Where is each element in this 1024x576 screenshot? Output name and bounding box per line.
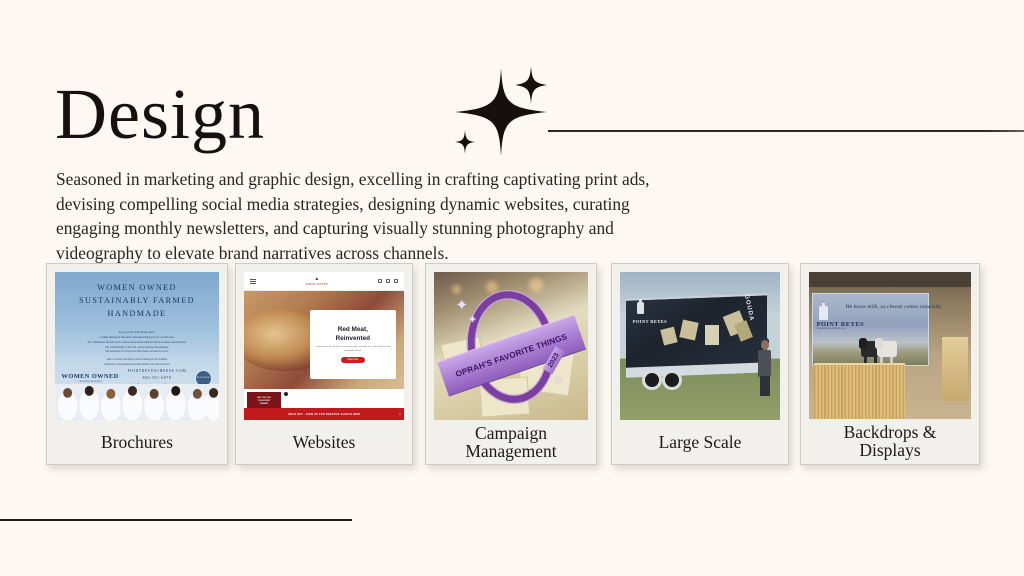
hero-message-card: Red Meat, Reinvented Grassfed beef the o…: [310, 310, 396, 378]
chat-bubble-icon: [284, 392, 288, 396]
card-caption-backdrops-displays: Backdrops & Displays: [809, 419, 971, 464]
torso: [758, 350, 771, 377]
portfolio-card-row: WOMEN OWNED SUSTAINABLY FARMED HANDMADE …: [0, 263, 1024, 473]
brochure-image: WOMEN OWNED SUSTAINABLY FARMED HANDMADE …: [55, 272, 219, 420]
ceiling-truss: [809, 272, 971, 287]
website-mockup-image: ▲POINT REYES Red Meat, Reinvented Grassf…: [244, 272, 404, 420]
brochure-body-copy: A lot goes into Point Reyes cheese. A fa…: [76, 331, 197, 368]
truck-wheel: [662, 370, 682, 390]
footer-divider-line: [0, 519, 352, 521]
header-area: Design: [0, 0, 1024, 160]
truck-wrap-image: POINT REYES GOUDA: [620, 272, 780, 420]
mockup-navbar: ▲POINT REYES: [244, 272, 404, 291]
people-row-photo: [55, 384, 219, 420]
hero-heading: Red Meat, Reinvented: [336, 326, 370, 342]
site-logo: ▲POINT REYES: [306, 277, 328, 286]
trade-show-backdrop-image: We know milk, so cheese comes naturally …: [809, 272, 971, 419]
legs: [760, 376, 770, 396]
backdrop-tagline: We know milk, so cheese comes naturally: [845, 304, 916, 310]
navbar-icons: [378, 279, 398, 283]
sparkle-burst-icon: ✦: [554, 375, 562, 386]
portfolio-card-brochures[interactable]: WOMEN OWNED SUSTAINABLY FARMED HANDMADE …: [46, 263, 228, 465]
menu-icon: [250, 279, 256, 284]
bokeh-light: [529, 278, 543, 292]
women-owned-logo: WOMEN OWNED CERTIFIED BUSINESS: [62, 373, 119, 383]
card-caption-websites: Websites: [244, 420, 404, 464]
point-reyes-logo: POINT REYES: [633, 319, 667, 324]
card-caption-campaign-management: Campaign Management: [434, 420, 588, 464]
backdrop-banner: We know milk, so cheese comes naturally …: [812, 293, 929, 366]
milk-can-icon: [637, 302, 644, 314]
truck-wheel: [642, 370, 662, 390]
announcement-bar: SOLD OUT - SIGN UP FOR RESTOCK ALERTS NO…: [244, 408, 404, 420]
search-icon: [378, 279, 382, 283]
sparkle-small-icon: [455, 130, 475, 154]
cheese-wedge-graphic: [679, 319, 698, 340]
close-icon: ×: [399, 413, 401, 416]
card-caption-brochures: Brochures: [55, 420, 219, 464]
gold-counter-display: [814, 363, 905, 419]
cow-head: [859, 338, 867, 349]
oprah-badge-image: ✦ ✦ ✦ ✦ OPRAH'S FAVORITE THINGS 2023: [434, 272, 588, 420]
shop-now-button: Shop Now: [341, 357, 366, 363]
cow-head: [875, 338, 883, 349]
bokeh-light: [452, 285, 461, 294]
side-display-panel: [942, 337, 968, 402]
hero-body: Grassfed beef the old flavor of each ric…: [313, 345, 393, 354]
portfolio-card-campaign-management[interactable]: ✦ ✦ ✦ ✦ OPRAH'S FAVORITE THINGS 2023 Cam…: [425, 263, 597, 465]
cow-white: [877, 334, 896, 365]
sparkle-burst-icon: ✦: [468, 313, 477, 326]
portfolio-card-websites[interactable]: ▲POINT REYES Red Meat, Reinvented Grassf…: [235, 263, 413, 465]
intro-paragraph: Seasoned in marketing and graphic design…: [56, 167, 676, 265]
card-caption-large-scale: Large Scale: [620, 420, 780, 464]
cheese-wedge-graphic: [705, 325, 719, 344]
bokeh-light: [486, 281, 498, 293]
person-standing: [758, 340, 772, 396]
sparkle-medium-icon: [515, 66, 547, 104]
brochure-headline: WOMEN OWNED SUSTAINABLY FARMED HANDMADE: [65, 281, 209, 321]
milk-can-icon: [819, 306, 828, 320]
head: [761, 340, 769, 350]
portfolio-card-backdrops-displays[interactable]: We know milk, so cheese comes naturally …: [800, 263, 980, 465]
page-title: Design: [55, 78, 265, 150]
portfolio-card-large-scale[interactable]: POINT REYES GOUDA Large Scale: [611, 263, 789, 465]
sparkle-decoration: [443, 58, 563, 158]
cart-icon: [394, 279, 398, 283]
header-divider-line: [548, 130, 1024, 132]
point-reyes-logo: POINT REYES FARMSTEAD CHEESE CO.: [817, 321, 864, 331]
account-icon: [386, 279, 390, 283]
sparkle-burst-icon: ✦: [456, 296, 469, 315]
sparkle-star-icon: [443, 58, 563, 158]
